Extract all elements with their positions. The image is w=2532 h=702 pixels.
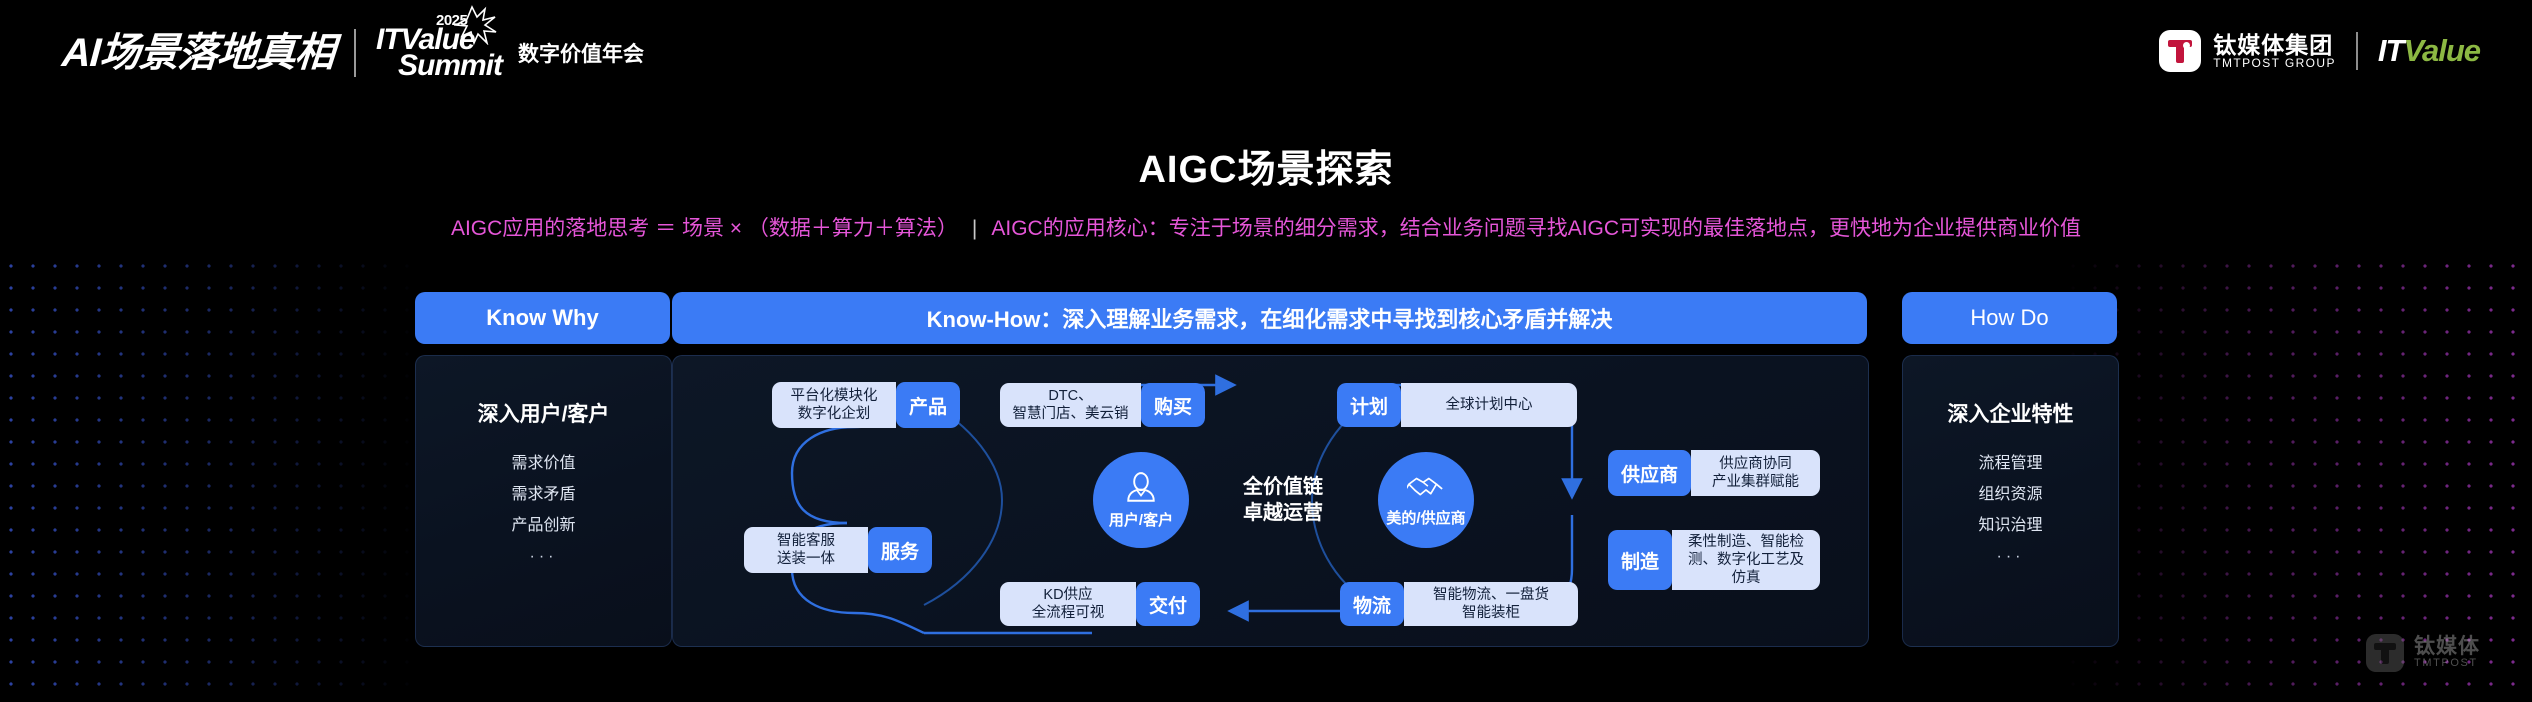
watermark: 钛媒体 TMTPOST [2366, 634, 2480, 672]
decorative-dot-field-left [0, 255, 420, 702]
panel-header-know-how[interactable]: Know-How：深入理解业务需求，在细化需求中寻找到核心矛盾并解决 [672, 292, 1867, 344]
panel-header-how-do[interactable]: How Do [1902, 292, 2117, 344]
tmtpost-logo-icon [2159, 30, 2201, 72]
node-supplier-tag: 供应商 [1608, 450, 1691, 496]
circle-user-customer[interactable]: 用户/客户 [1093, 452, 1189, 548]
list-item: 需求价值 [416, 448, 671, 479]
list-ellipsis: ··· [1903, 541, 2118, 572]
know-why-heading: 深入用户/客户 [416, 398, 671, 428]
summit-line2: Summit [376, 53, 502, 79]
node-manufacture-desc: 柔性制造、智能检测、数字化工艺及仿真 [1672, 530, 1820, 590]
how-do-heading: 深入企业特性 [1903, 398, 2118, 428]
subtitle-left: AIGC应用的落地思考 ＝ 场景 × （数据＋算力＋算法） [451, 217, 958, 240]
user-icon [1124, 471, 1158, 505]
node-plan[interactable]: 计划 全球计划中心 [1337, 383, 1577, 427]
node-purchase-tag: 购买 [1141, 383, 1205, 427]
node-service[interactable]: 智能客服送装一体 服务 [744, 527, 932, 573]
node-purchase[interactable]: DTC、智慧门店、美云销 购买 [1000, 383, 1205, 427]
node-service-tag: 服务 [868, 527, 932, 573]
tmtpost-brand-text: 钛媒体集团 TMTPOST GROUP [2213, 33, 2336, 70]
list-item: 组织资源 [1903, 479, 2118, 510]
watermark-text: 钛媒体 TMTPOST [2414, 636, 2480, 670]
circle-supplier-label: 美的/供应商 [1386, 507, 1465, 528]
summit-subtitle-cn: 数字价值年会 [518, 38, 644, 68]
header-divider [354, 29, 356, 77]
subtitle-separator: | [972, 217, 977, 240]
watermark-en: TMTPOST [2414, 658, 2480, 670]
page-subtitle: AIGC应用的落地思考 ＝ 场景 × （数据＋算力＋算法）|AIGC的应用核心：… [0, 212, 2532, 242]
node-logistics-tag: 物流 [1340, 582, 1404, 626]
node-product[interactable]: 平台化模块化数字化企划 产品 [772, 382, 960, 428]
node-service-desc: 智能客服送装一体 [744, 527, 868, 573]
node-plan-tag: 计划 [1337, 383, 1401, 427]
list-ellipsis: ··· [416, 541, 671, 572]
summit-wordmark: ITValue Summit 2025 [376, 27, 502, 79]
node-delivery-tag: 交付 [1136, 582, 1200, 626]
node-logistics[interactable]: 物流 智能物流、一盘货智能装柜 [1340, 582, 1578, 626]
circle-supplier[interactable]: 美的/供应商 [1378, 452, 1474, 548]
page-title: AIGC场景探索 [0, 138, 2532, 193]
list-item: 知识治理 [1903, 510, 2118, 541]
event-keyvisual-title: AI场景落地真相 [61, 33, 336, 73]
subtitle-right: AIGC的应用核心：专注于场景的细分需求，结合业务问题寻找AIGC可实现的最佳落… [991, 217, 2081, 240]
starburst-icon [454, 5, 498, 45]
node-supplier-desc: 供应商协同产业集群赋能 [1691, 450, 1820, 496]
center-text-line1: 全价值链 [1208, 474, 1358, 500]
brand-divider [2356, 32, 2358, 70]
panel-header-know-why[interactable]: Know Why [415, 292, 670, 344]
node-purchase-desc: DTC、智慧门店、美云销 [1000, 383, 1141, 427]
watermark-cn: 钛媒体 [2414, 636, 2480, 658]
node-delivery[interactable]: KD供应全流程可视 交付 [1000, 582, 1200, 626]
tmtpost-brand-cn: 钛媒体集团 [2213, 33, 2336, 57]
header-left-logo-group: AI场景落地真相 ITValue Summit 2025 数字价值年会 [62, 20, 644, 86]
node-logistics-desc: 智能物流、一盘货智能装柜 [1404, 582, 1578, 626]
itvalue-it: IT [2378, 33, 2404, 68]
list-item: 流程管理 [1903, 448, 2118, 479]
node-manufacture[interactable]: 制造 柔性制造、智能检测、数字化工艺及仿真 [1608, 530, 1820, 590]
node-plan-desc: 全球计划中心 [1401, 383, 1577, 427]
summit-logo-group: ITValue Summit 2025 数字价值年会 [376, 27, 644, 79]
panel-how-do: 深入企业特性 流程管理 组织资源 知识治理 ··· [1902, 355, 2119, 647]
center-text-line2: 卓越运营 [1208, 500, 1358, 526]
know-why-list: 需求价值 需求矛盾 产品创新 ··· [416, 448, 671, 572]
circle-user-label: 用户/客户 [1109, 509, 1173, 530]
node-delivery-desc: KD供应全流程可视 [1000, 582, 1136, 626]
center-value-chain-text: 全价值链 卓越运营 [1208, 474, 1358, 526]
itvalue-brand-logo: ITValue [2378, 33, 2480, 69]
how-do-list: 流程管理 组织资源 知识治理 ··· [1903, 448, 2118, 572]
node-supplier[interactable]: 供应商 供应商协同产业集群赋能 [1608, 450, 1820, 496]
panel-know-why: 深入用户/客户 需求价值 需求矛盾 产品创新 ··· [415, 355, 672, 647]
handshake-icon [1407, 473, 1445, 503]
slide-canvas: AI场景落地真相 ITValue Summit 2025 数字价值年会 钛媒体集… [0, 0, 2532, 702]
itvalue-value: Value [2403, 33, 2480, 68]
list-item: 产品创新 [416, 510, 671, 541]
node-manufacture-tag: 制造 [1608, 530, 1672, 590]
node-product-tag: 产品 [896, 382, 960, 428]
tmtpost-brand-en: TMTPOST GROUP [2213, 57, 2336, 70]
header-right-brand-group: 钛媒体集团 TMTPOST GROUP ITValue [2159, 24, 2480, 78]
watermark-logo-icon [2366, 634, 2404, 672]
node-product-desc: 平台化模块化数字化企划 [772, 382, 896, 428]
list-item: 需求矛盾 [416, 479, 671, 510]
